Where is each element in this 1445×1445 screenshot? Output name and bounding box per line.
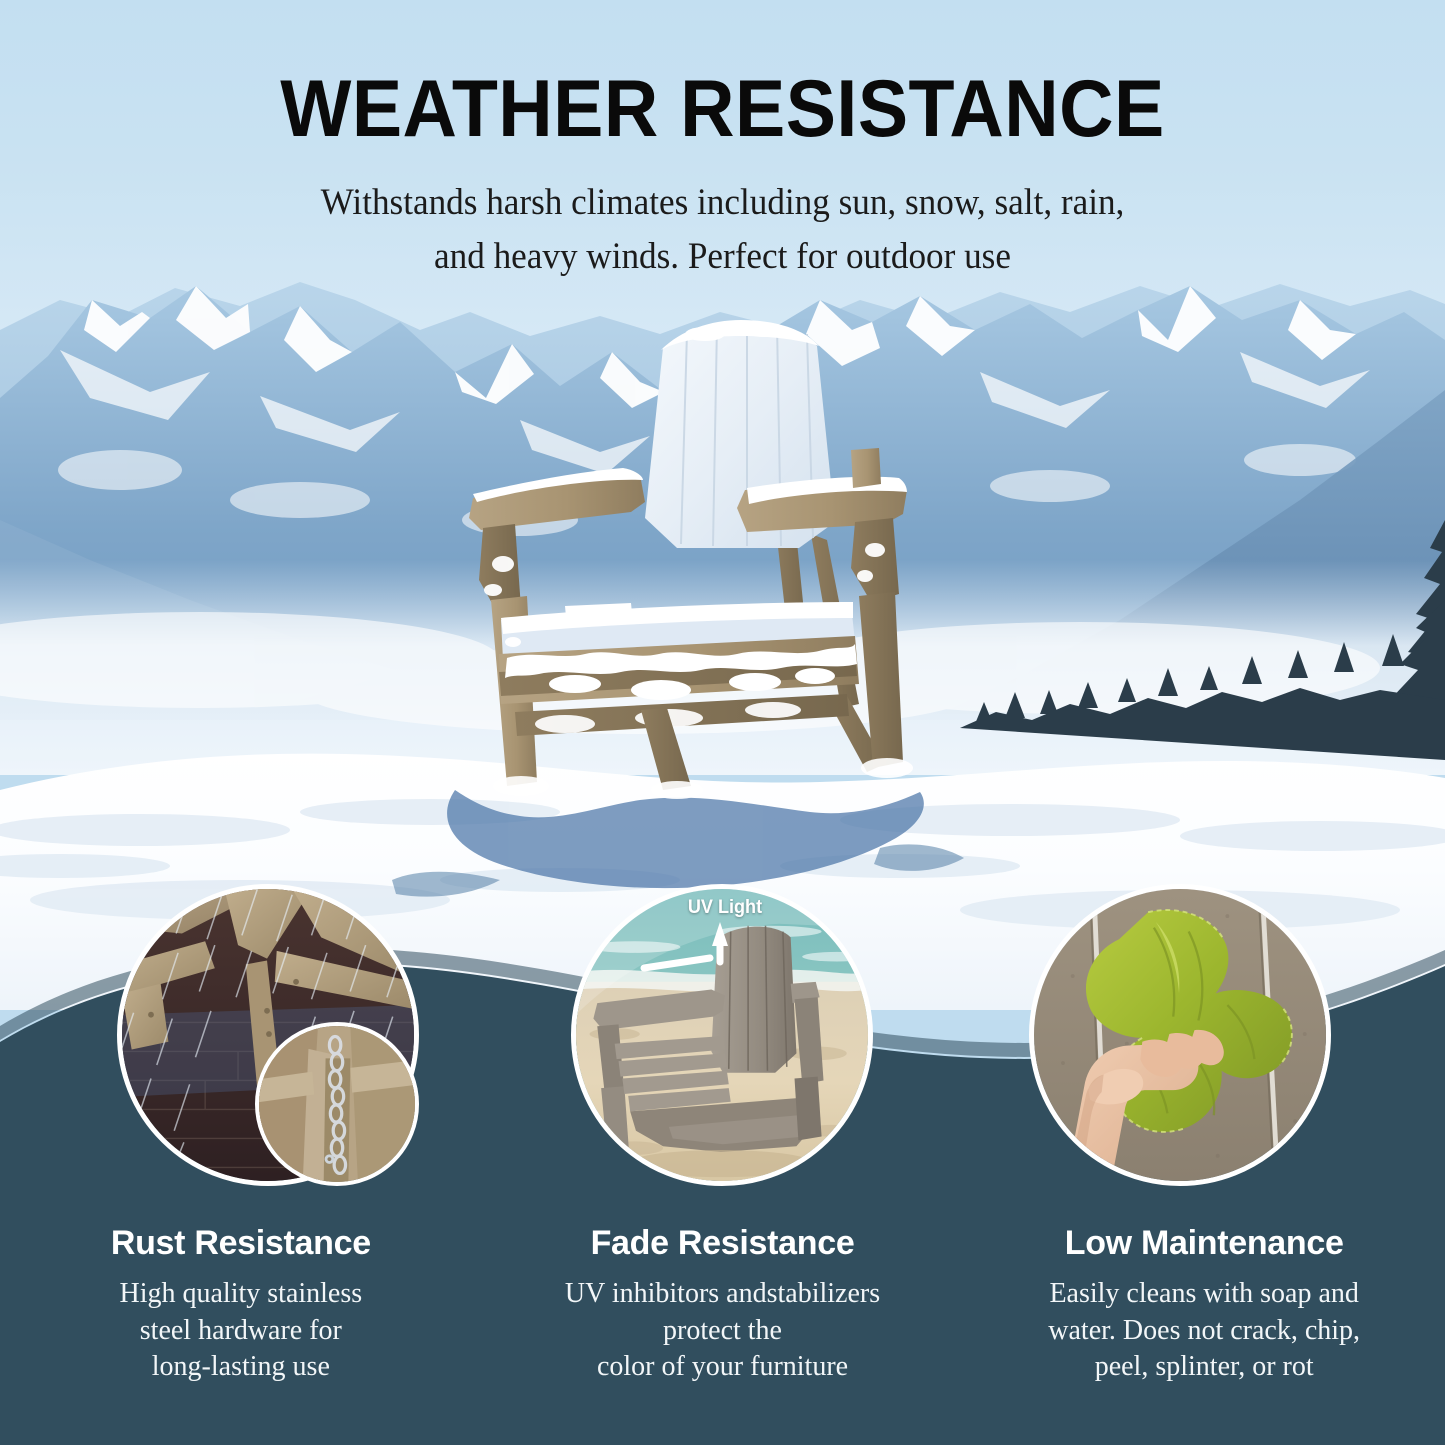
feature-title-rust-resistance: Rust Resistance bbox=[22, 1224, 460, 1263]
feature-card-low-maintenance: Low Maintenance Easily cleans with soap … bbox=[963, 1224, 1445, 1434]
feature-title-fade-resistance: Fade Resistance bbox=[504, 1224, 942, 1263]
feature-body-line: water. Does not crack, chip, bbox=[1048, 1315, 1360, 1346]
hero-chair bbox=[455, 312, 935, 832]
subtitle-line-1: Withstands harsh climates including sun,… bbox=[321, 182, 1125, 223]
snow-covered-adirondack-chair bbox=[455, 312, 935, 832]
uv-light-label: UV Light bbox=[659, 897, 792, 919]
feature-list: Rust Resistance High quality stainless s… bbox=[0, 1224, 1445, 1434]
feature-title-low-maintenance: Low Maintenance bbox=[985, 1224, 1423, 1263]
header-block: WEATHER RESISTANCE Withstands harsh clim… bbox=[0, 0, 1445, 283]
feature-inset-image-chain-hardware bbox=[255, 1022, 419, 1186]
feature-body-low-maintenance: Easily cleans with soap and water. Does … bbox=[985, 1276, 1423, 1386]
feature-body-line: protect the bbox=[663, 1315, 782, 1346]
feature-body-line: Easily cleans with soap and bbox=[1049, 1278, 1358, 1309]
feature-body-line: long-lasting use bbox=[152, 1351, 330, 1382]
hand-wiping-with-cloth-image bbox=[1034, 889, 1326, 1181]
stainless-chain-closeup-image bbox=[259, 1026, 415, 1182]
feature-body-line: UV inhibitors andstabilizers bbox=[565, 1278, 880, 1309]
uv-arrow-icon bbox=[640, 918, 760, 982]
feature-body-fade-resistance: UV inhibitors andstabilizers protect the… bbox=[504, 1276, 942, 1386]
feature-body-line: High quality stainless bbox=[120, 1278, 363, 1309]
infographic-canvas: WEATHER RESISTANCE Withstands harsh clim… bbox=[0, 0, 1445, 1445]
feature-body-line: peel, splinter, or rot bbox=[1095, 1351, 1314, 1382]
page-subtitle: Withstands harsh climates including sun,… bbox=[36, 150, 1409, 283]
page-title: WEATHER RESISTANCE bbox=[51, 0, 1395, 150]
feature-image-low-maintenance bbox=[1029, 884, 1331, 1186]
feature-card-rust-resistance: Rust Resistance High quality stainless s… bbox=[0, 1224, 482, 1434]
feature-body-rust-resistance: High quality stainless steel hardware fo… bbox=[22, 1276, 460, 1386]
feature-body-line: steel hardware for bbox=[140, 1315, 342, 1346]
feature-body-line: color of your furniture bbox=[597, 1351, 848, 1382]
feature-card-fade-resistance: Fade Resistance UV inhibitors andstabili… bbox=[482, 1224, 964, 1434]
subtitle-line-2: and heavy winds. Perfect for outdoor use bbox=[434, 236, 1011, 277]
